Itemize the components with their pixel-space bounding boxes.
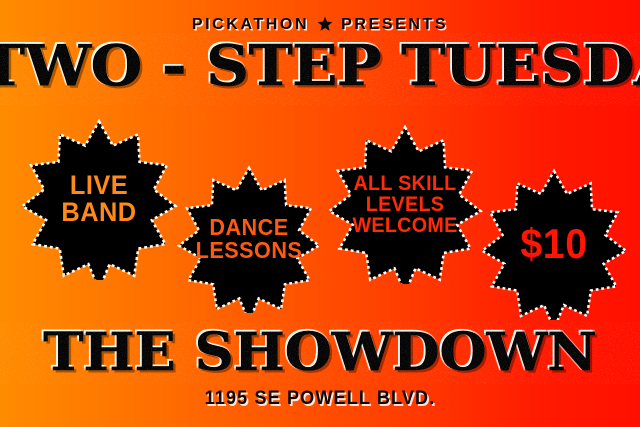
badge-live-band: LIVE BAND: [18, 118, 180, 280]
venue-name: THE SHOWDOWN: [0, 322, 640, 383]
presents-word: PRESENTS: [341, 16, 448, 34]
starburst-shape: [482, 171, 626, 320]
page-title: TWO - STEP TUESDAY: [0, 33, 640, 99]
badge-dance-lessons: DANCE LESSONS: [175, 165, 323, 313]
star-icon: [317, 16, 333, 32]
venue-address: 1195 SE POWELL BLVD.: [16, 388, 624, 410]
badge-price: $10: [478, 168, 630, 320]
event-poster: PICKATHONPRESENTS TWO - STEP TUESDAY LIV…: [0, 0, 640, 427]
brand-name: PICKATHON: [192, 16, 309, 34]
starburst-shape: [179, 168, 319, 313]
badge-skill-levels: ALL SKILL LEVELS WELCOME: [325, 124, 485, 284]
presenter-line: PICKATHONPRESENTS: [0, 16, 640, 34]
starburst-shape: [22, 121, 175, 280]
starburst-shape: [329, 127, 480, 284]
